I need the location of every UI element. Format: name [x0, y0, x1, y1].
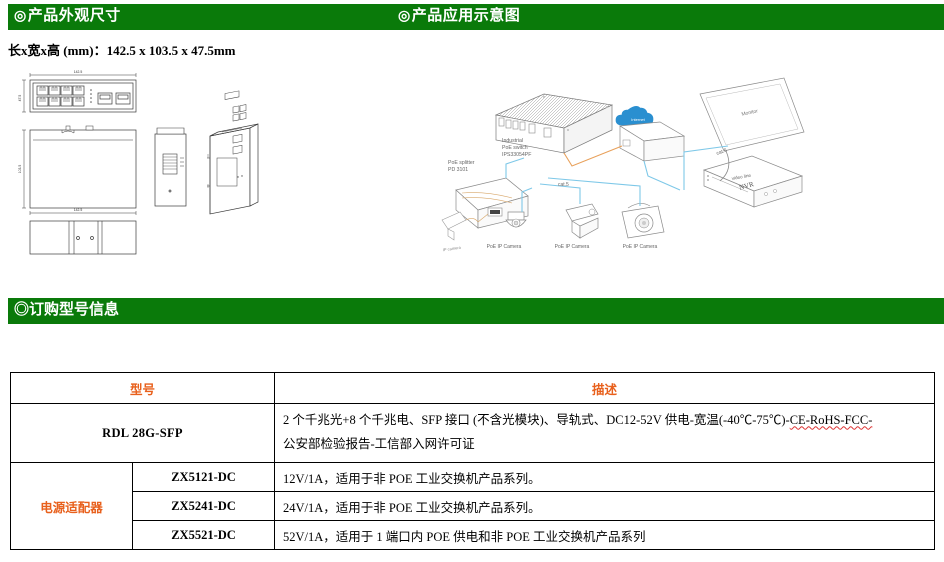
section-title-ordering: ◎订购型号信息 — [14, 298, 119, 324]
svg-text:47.5: 47.5 — [18, 95, 22, 102]
poe-camera-dome — [506, 212, 526, 227]
application-topology-diagram: Internet — [432, 60, 944, 265]
desc-line1-b: CE-RoHS-FCC- — [790, 413, 873, 427]
cable-label-cat5: cat.5 — [558, 182, 569, 188]
adapter-desc-1: 24V/1A，适用于非 POE 工业交换机产品系列。 — [275, 492, 935, 521]
table-header-model: 型号 — [11, 373, 275, 404]
table-header-row: 型号 描述 — [11, 373, 935, 404]
cable-label-cat5-upper: cat.5 — [716, 147, 728, 156]
perspective-view — [207, 91, 258, 214]
ordering-table: 型号 描述 RDL 28G-SFP 2 个千兆光+8 个千兆电、SFP 接口 (… — [10, 372, 935, 550]
adapter-model-2: ZX5521-DC — [133, 521, 275, 550]
top-section-bar: ◎产品外观尺寸 ◎产品应用示意图 — [8, 4, 944, 30]
nvr-graphic: NVR — [704, 156, 802, 207]
switch-label-line2: PoE switch — [502, 145, 528, 151]
table-row: ZX5521-DC 52V/1A，适用于 1 端口内 POE 供电和非 POE … — [11, 521, 935, 550]
section-title-ordering-text: 订购型号信息 — [29, 302, 119, 318]
table-row: ZX5241-DC 24V/1A，适用于非 POE 工业交换机产品系列。 — [11, 492, 935, 521]
product-datasheet-page: ◎产品外观尺寸 ◎产品应用示意图 长x宽x高 (mm)：142.5 x 103.… — [0, 0, 944, 562]
camera2-label: PoE IP Camera — [555, 244, 590, 250]
table-row: RDL 28G-SFP 2 个千兆光+8 个千兆电、SFP 接口 (不含光模块)… — [11, 404, 935, 463]
poe-camera-box — [622, 203, 664, 238]
switch-label-line3: IPS33054PF — [502, 152, 531, 158]
model-name-rdl28gsfp: RDL 28G-SFP — [11, 404, 275, 463]
svg-text:142.5: 142.5 — [74, 208, 83, 212]
top-view: 103.5 142.5 — [18, 126, 136, 215]
ordering-section-bar — [8, 298, 944, 324]
svg-text:142.5: 142.5 — [74, 70, 83, 74]
adapter-model-1: ZX5241-DC — [133, 492, 275, 521]
router-graphic — [620, 122, 684, 161]
switch-label-line1: Industrial — [502, 138, 523, 144]
camera1-label: PoE IP Camera — [487, 244, 522, 250]
splitter-label-line2: PD 3101 — [448, 167, 468, 173]
svg-text:Internet: Internet — [631, 117, 645, 122]
table-row: 电源适配器 ZX5121-DC 12V/1A，适用于非 POE 工业交换机产品系… — [11, 463, 935, 492]
desc-line2: 公安部检验报告-工信部入网许可证 — [283, 437, 475, 451]
poe-camera-bullet — [566, 204, 598, 238]
section-title-dimensions: ◎产品外观尺寸 — [14, 4, 121, 30]
bottom-view — [30, 221, 136, 254]
internet-cloud-icon: Internet — [616, 106, 653, 125]
model-description-rdl28gsfp: 2 个千兆光+8 个千兆电、SFP 接口 (不含光模块)、导轨式、DC12-52… — [275, 404, 935, 463]
adapter-model-0: ZX5121-DC — [133, 463, 275, 492]
adapter-desc-0: 12V/1A，适用于非 POE 工业交换机产品系列。 — [275, 463, 935, 492]
splitter-label-line1: PoE splitter — [448, 160, 475, 166]
circle-bullet-icon: ◎ — [14, 302, 29, 318]
side-view — [155, 128, 186, 206]
network-cables — [506, 146, 728, 212]
adapter-desc-2: 52V/1A，适用于 1 端口内 POE 供电和非 POE 工业交换机产品系列 — [275, 521, 935, 550]
svg-text:103.5: 103.5 — [18, 165, 22, 174]
circle-bullet-icon: ◎ — [398, 9, 411, 24]
desc-line1-a: 2 个千兆光+8 个千兆电、SFP 接口 (不含光模块)、导轨式、DC12-52… — [283, 413, 790, 427]
section-title-dimensions-text: 产品外观尺寸 — [28, 8, 121, 24]
circle-bullet-icon: ◎ — [14, 9, 27, 24]
dimension-text: 长x宽x高 (mm)：142.5 x 103.5 x 47.5mm — [8, 40, 235, 59]
front-view: 142.5 47.5 — [18, 70, 136, 112]
product-technical-drawing: 142.5 47.5 103.5 142.5 — [12, 66, 297, 261]
section-title-application: ◎产品应用示意图 — [398, 4, 520, 30]
camera3-label: PoE IP Camera — [623, 244, 658, 250]
table-header-description: 描述 — [275, 373, 935, 404]
section-title-application-text: 产品应用示意图 — [412, 8, 521, 24]
ipcamera-label: IP camera — [442, 245, 461, 253]
adapter-group-label: 电源适配器 — [11, 463, 133, 550]
